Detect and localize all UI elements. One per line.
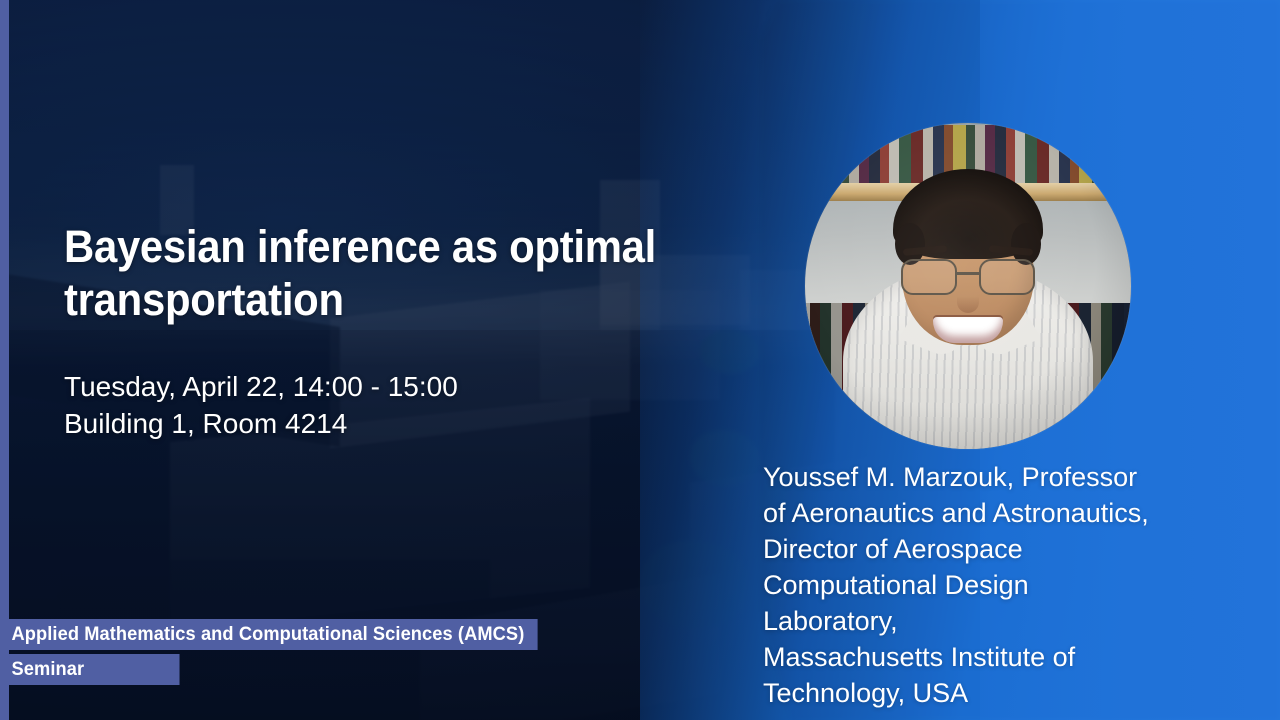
event-type-badge: Seminar <box>0 654 180 685</box>
speaker-bio-line: of Aeronautics and Astronautics, <box>763 495 1203 531</box>
speaker-bio-line: Director of Aerospace <box>763 531 1203 567</box>
department-badge: Applied Mathematics and Computational Sc… <box>0 619 538 650</box>
seminar-datetime: Tuesday, April 22, 14:00 - 15:00 <box>64 368 684 405</box>
speaker-bio-line: Computational Design <box>763 567 1203 603</box>
speaker-bio: Youssef M. Marzouk, Professor of Aeronau… <box>763 459 1203 711</box>
speaker-bio-line: Youssef M. Marzouk, Professor <box>763 459 1203 495</box>
seminar-title: Bayesian inference as optimal transporta… <box>64 220 715 326</box>
seminar-announcement-slide: Bayesian inference as optimal transporta… <box>0 0 1280 720</box>
seminar-location: Building 1, Room 4214 <box>64 405 684 442</box>
speaker-bio-line: Laboratory, <box>763 603 1203 639</box>
speaker-bio-line: Technology, USA <box>763 675 1203 711</box>
left-accent-strip <box>0 0 9 720</box>
speaker-portrait <box>805 123 1131 449</box>
seminar-schedule: Tuesday, April 22, 14:00 - 15:00 Buildin… <box>64 368 684 442</box>
portrait-vignette <box>805 123 1131 449</box>
speaker-bio-line: Massachusetts Institute of <box>763 639 1203 675</box>
